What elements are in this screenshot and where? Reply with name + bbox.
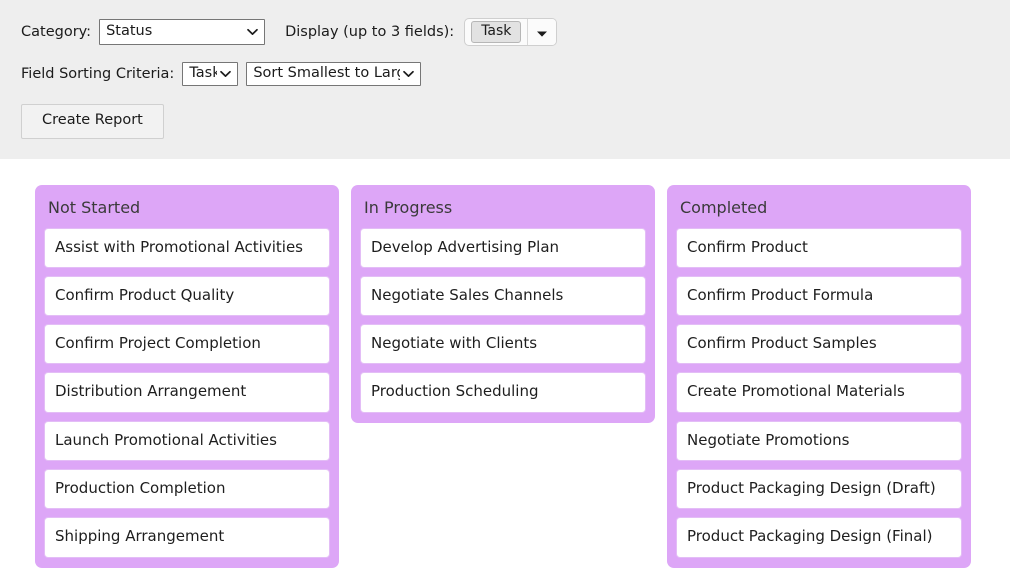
create-report-button[interactable]: Create Report — [21, 104, 164, 139]
task-card[interactable]: Assist with Promotional Activities — [44, 228, 330, 268]
toolbar-row-category: Category: Status Display (up to 3 fields… — [21, 18, 1010, 46]
field-sorting-criteria-label: Field Sorting Criteria: — [21, 66, 174, 82]
task-card[interactable]: Negotiate Sales Channels — [360, 276, 646, 316]
task-card[interactable]: Shipping Arrangement — [44, 517, 330, 557]
category-select-wrapper: Status — [91, 19, 265, 45]
task-card[interactable]: Create Promotional Materials — [676, 372, 962, 412]
task-card[interactable]: Product Packaging Design (Draft) — [676, 469, 962, 509]
task-card[interactable]: Confirm Product Samples — [676, 324, 962, 364]
display-field-chip-task[interactable]: Task — [471, 21, 521, 44]
board-column: Not StartedAssist with Promotional Activ… — [35, 185, 339, 568]
category-select[interactable]: Status — [99, 19, 265, 45]
display-chip-area: Task — [465, 19, 527, 45]
task-card[interactable]: Distribution Arrangement — [44, 372, 330, 412]
task-card[interactable]: Production Completion — [44, 469, 330, 509]
category-label: Category: — [21, 24, 91, 40]
status-board: Not StartedAssist with Promotional Activ… — [0, 159, 1010, 568]
board-column-title: Not Started — [44, 195, 330, 228]
display-fields-dropdown-button[interactable] — [527, 19, 556, 45]
task-card[interactable]: Confirm Product — [676, 228, 962, 268]
toolbar-row-actions: Create Report — [21, 104, 1010, 139]
sort-field-select[interactable]: Task — [182, 62, 238, 86]
sort-field-select-wrapper: Task — [174, 62, 238, 86]
task-card[interactable]: Confirm Product Quality — [44, 276, 330, 316]
board-column: In ProgressDevelop Advertising PlanNegot… — [351, 185, 655, 423]
display-fields-picker[interactable]: Task — [464, 18, 557, 46]
sort-order-select-wrapper: Sort Smallest to Largest — [238, 62, 421, 86]
board-column-title: Completed — [676, 195, 962, 228]
chevron-down-icon — [536, 23, 548, 42]
task-card[interactable]: Confirm Product Formula — [676, 276, 962, 316]
task-card[interactable]: Product Packaging Design (Final) — [676, 517, 962, 557]
task-card[interactable]: Negotiate with Clients — [360, 324, 646, 364]
sort-order-select[interactable]: Sort Smallest to Largest — [246, 62, 421, 86]
task-card[interactable]: Develop Advertising Plan — [360, 228, 646, 268]
display-fields-label: Display (up to 3 fields): — [285, 24, 454, 40]
task-card[interactable]: Launch Promotional Activities — [44, 421, 330, 461]
board-column: CompletedConfirm ProductConfirm Product … — [667, 185, 971, 568]
report-toolbar: Category: Status Display (up to 3 fields… — [0, 0, 1010, 159]
task-card[interactable]: Negotiate Promotions — [676, 421, 962, 461]
toolbar-row-sorting: Field Sorting Criteria: Task Sort Smalle… — [21, 60, 1010, 88]
board-column-title: In Progress — [360, 195, 646, 228]
task-card[interactable]: Production Scheduling — [360, 372, 646, 412]
task-card[interactable]: Confirm Project Completion — [44, 324, 330, 364]
